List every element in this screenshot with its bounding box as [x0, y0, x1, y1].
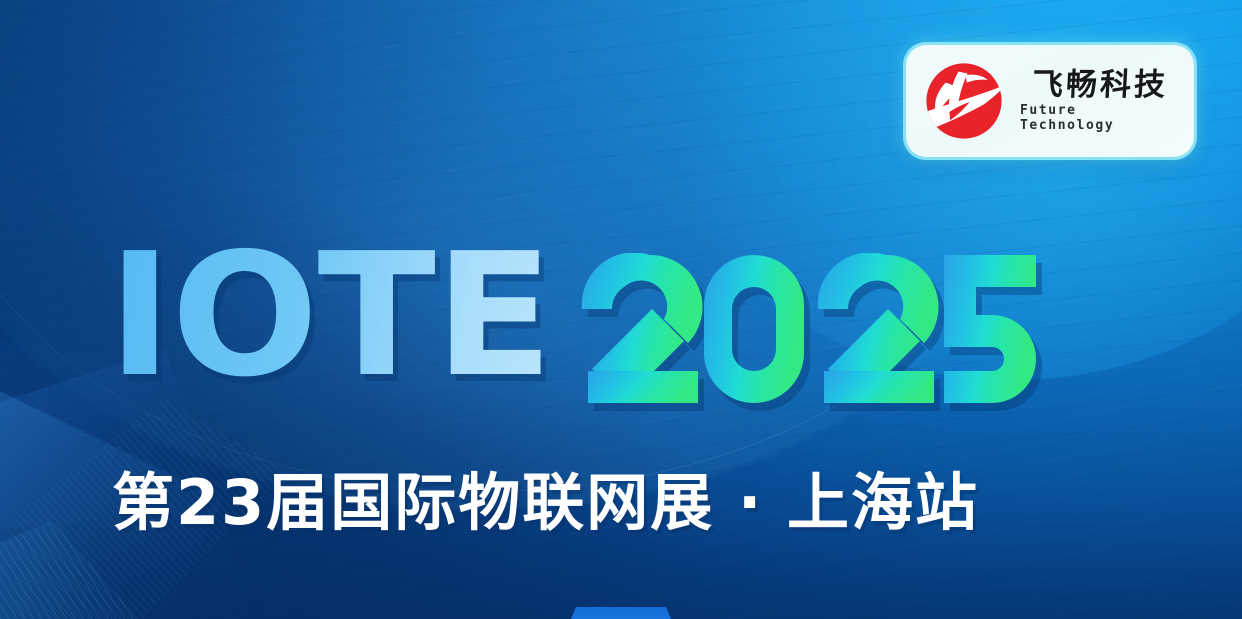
subtitle: 第23届国际物联网展 · 上海站	[112, 452, 979, 542]
headline: IOTE	[112, 243, 1040, 405]
fc-globe-icon	[918, 57, 1010, 145]
logo-name-cn: 飞畅科技	[1031, 69, 1169, 102]
logo-name-en: Future Technology	[1020, 103, 1180, 133]
title-iote: IOTE	[108, 243, 553, 389]
bottom-center-tab	[571, 607, 671, 619]
iote-2025-banner: 飞畅科技 Future Technology IOTE	[0, 0, 1242, 619]
title-year-2025	[580, 253, 1040, 405]
sponsor-logo-badge[interactable]: 飞畅科技 Future Technology	[906, 45, 1194, 157]
logo-wordmark: 飞畅科技 Future Technology	[1020, 69, 1180, 133]
